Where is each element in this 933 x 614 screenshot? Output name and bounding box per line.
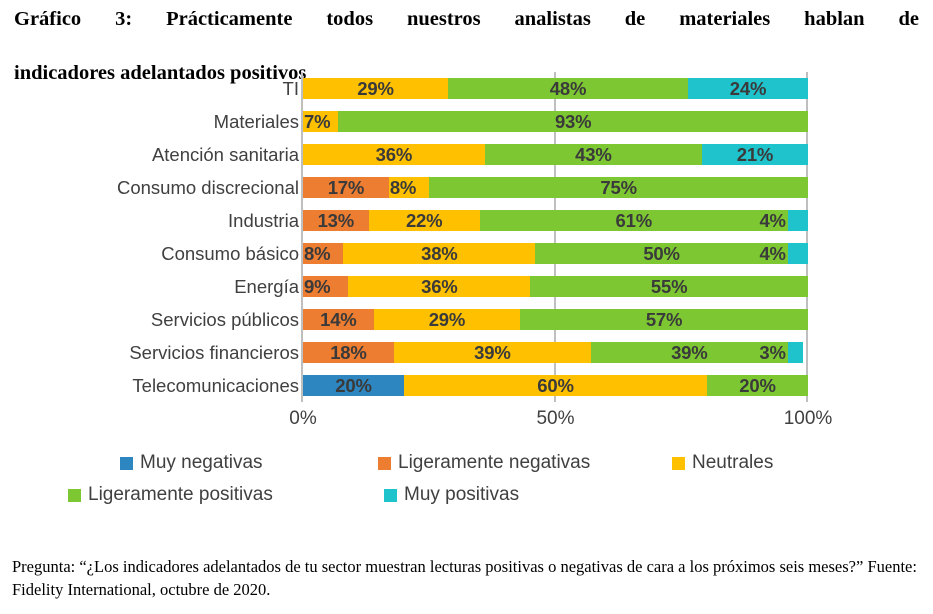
legend-swatch-icon (120, 457, 133, 470)
bar-segment-value: 60% (537, 375, 573, 396)
bar-segment-value: 18% (330, 342, 366, 363)
bar-segment-value: 36% (376, 144, 412, 165)
page-title-line-1: Gráfico 3: Prácticamente todos nuestros … (14, 6, 919, 60)
bar-segment-value: 17% (328, 177, 364, 198)
category-label: Industria (228, 204, 299, 237)
category-label: Materiales (214, 105, 299, 138)
bar-segment: 39% (394, 342, 591, 363)
bar-segment: 29% (303, 78, 448, 99)
stacked-bar: 14%29%57% (303, 309, 808, 330)
legend-item[interactable]: Muy positivas (384, 484, 519, 506)
bar-segment-value: 61% (616, 210, 652, 231)
bar-segment-value: 8% (304, 243, 330, 264)
bar-segment-value: 3% (759, 342, 787, 363)
bar-segment-value: 14% (320, 309, 356, 330)
x-axis-tick-labels: 0%50%100% (303, 408, 808, 438)
category-label: Consumo discrecional (117, 171, 299, 204)
bar-segment-value: 43% (575, 144, 611, 165)
bar-segment: 17% (303, 177, 389, 198)
bar-segment: 60% (404, 375, 707, 396)
bar-segment: 7% (303, 111, 338, 132)
chart-row: Atención sanitaria36%43%21% (303, 138, 808, 171)
legend-swatch-icon (672, 457, 685, 470)
chart-row: Telecomunicaciones20%60%20% (303, 369, 808, 402)
bar-segment-value: 55% (651, 276, 687, 297)
legend-swatch-icon (384, 489, 397, 502)
category-label: Energía (234, 270, 299, 303)
stacked-bar: 20%60%20% (303, 375, 808, 396)
stacked-bar: 8%38%50%4% (303, 243, 808, 264)
stacked-bar: 17%8%75% (303, 177, 808, 198)
bar-segment-value: 39% (671, 342, 707, 363)
chart-footnote: Pregunta: “¿Los indicadores adelantados … (12, 555, 922, 601)
bar-segment-value: 48% (550, 78, 586, 99)
bar-segment: 9% (303, 276, 348, 297)
bar-segment-value: 8% (390, 177, 416, 198)
legend-item[interactable]: Muy negativas (120, 452, 263, 474)
stacked-bar: 7%93% (303, 111, 808, 132)
stacked-bar: 18%39%39%3% (303, 342, 808, 363)
bar-segment-value: 50% (643, 243, 679, 264)
legend-label: Muy negativas (140, 452, 263, 474)
stacked-bar-chart: TI29%48%24%Materiales7%93%Atención sanit… (0, 66, 933, 446)
bar-segment: 57% (520, 309, 808, 330)
bar-segment: 4% (788, 210, 808, 231)
bar-segment: 39% (591, 342, 788, 363)
chart-row: Servicios públicos14%29%57% (303, 303, 808, 336)
legend-swatch-icon (68, 489, 81, 502)
bar-segment: 8% (389, 177, 429, 198)
bar-segment: 55% (530, 276, 808, 297)
bar-segment: 21% (702, 144, 808, 165)
bar-segment: 20% (707, 375, 808, 396)
bar-segment-value: 29% (429, 309, 465, 330)
legend-row-2: Ligeramente positivasMuy positivas (0, 484, 933, 514)
bar-segment-value: 20% (739, 375, 775, 396)
bar-segment: 3% (788, 342, 803, 363)
bar-segment-value: 75% (600, 177, 636, 198)
bar-segment-value: 24% (730, 78, 766, 99)
bar-segment: 13% (303, 210, 369, 231)
bar-segment: 93% (338, 111, 808, 132)
bar-segment: 75% (429, 177, 808, 198)
category-label: Consumo básico (161, 237, 299, 270)
bar-segment-value: 20% (335, 375, 371, 396)
bar-segment: 61% (480, 210, 788, 231)
bar-segment: 43% (485, 144, 702, 165)
legend-swatch-icon (378, 457, 391, 470)
bar-segment-value: 4% (759, 243, 787, 264)
bar-segment: 50% (535, 243, 788, 264)
bar-segment-value: 21% (737, 144, 773, 165)
bar-segment: 38% (343, 243, 535, 264)
bar-segment-value: 39% (474, 342, 510, 363)
chart-row: Energía9%36%55% (303, 270, 808, 303)
chart-row: Consumo básico8%38%50%4% (303, 237, 808, 270)
bar-segment: 20% (303, 375, 404, 396)
bar-segment-value: 9% (304, 276, 330, 297)
bar-segment: 8% (303, 243, 343, 264)
stacked-bar: 29%48%24% (303, 78, 808, 99)
category-label: Servicios financieros (129, 336, 299, 369)
x-axis-tick-0: 0% (289, 408, 316, 430)
bar-segment-value: 57% (646, 309, 682, 330)
bar-segment-value: 36% (421, 276, 457, 297)
legend-row-1: Muy negativasLigeramente negativasNeutra… (0, 452, 933, 482)
bar-segment: 29% (374, 309, 520, 330)
bar-segment-value: 7% (304, 111, 330, 132)
bar-segment: 24% (688, 78, 808, 99)
category-label: Atención sanitaria (152, 138, 299, 171)
bar-segment-value: 93% (555, 111, 591, 132)
bar-segment-value: 29% (357, 78, 393, 99)
chart-row: Industria13%22%61%4% (303, 204, 808, 237)
bar-segment-value: 13% (318, 210, 354, 231)
chart-row: Consumo discrecional17%8%75% (303, 171, 808, 204)
category-label: Telecomunicaciones (132, 369, 299, 402)
legend-label: Ligeramente positivas (88, 484, 273, 506)
plot-area: TI29%48%24%Materiales7%93%Atención sanit… (303, 72, 808, 402)
bar-segment: 14% (303, 309, 374, 330)
stacked-bar: 13%22%61%4% (303, 210, 808, 231)
chart-row: Servicios financieros18%39%39%3% (303, 336, 808, 369)
legend-label: Ligeramente negativas (398, 452, 590, 474)
bar-segment: 48% (448, 78, 688, 99)
legend-label: Neutrales (692, 452, 773, 474)
category-label: Servicios públicos (151, 303, 299, 336)
chart-legend: Muy negativasLigeramente negativasNeutra… (0, 452, 933, 522)
bar-segment: 36% (303, 144, 485, 165)
bar-segment: 4% (788, 243, 808, 264)
bar-segment: 18% (303, 342, 394, 363)
legend-item[interactable]: Neutrales (672, 452, 773, 474)
bar-segment: 22% (369, 210, 480, 231)
x-axis-tick-50: 50% (536, 408, 574, 430)
legend-label: Muy positivas (404, 484, 519, 506)
stacked-bar: 9%36%55% (303, 276, 808, 297)
stacked-bar: 36%43%21% (303, 144, 808, 165)
bar-segment-value: 4% (759, 210, 787, 231)
x-axis-tick-100: 100% (784, 408, 833, 430)
bar-segment-value: 38% (421, 243, 457, 264)
bar-segment-value: 22% (406, 210, 442, 231)
chart-row: TI29%48%24% (303, 72, 808, 105)
bar-segment: 36% (348, 276, 530, 297)
category-label: TI (283, 72, 299, 105)
legend-item[interactable]: Ligeramente positivas (68, 484, 273, 506)
chart-row: Materiales7%93% (303, 105, 808, 138)
legend-item[interactable]: Ligeramente negativas (378, 452, 590, 474)
